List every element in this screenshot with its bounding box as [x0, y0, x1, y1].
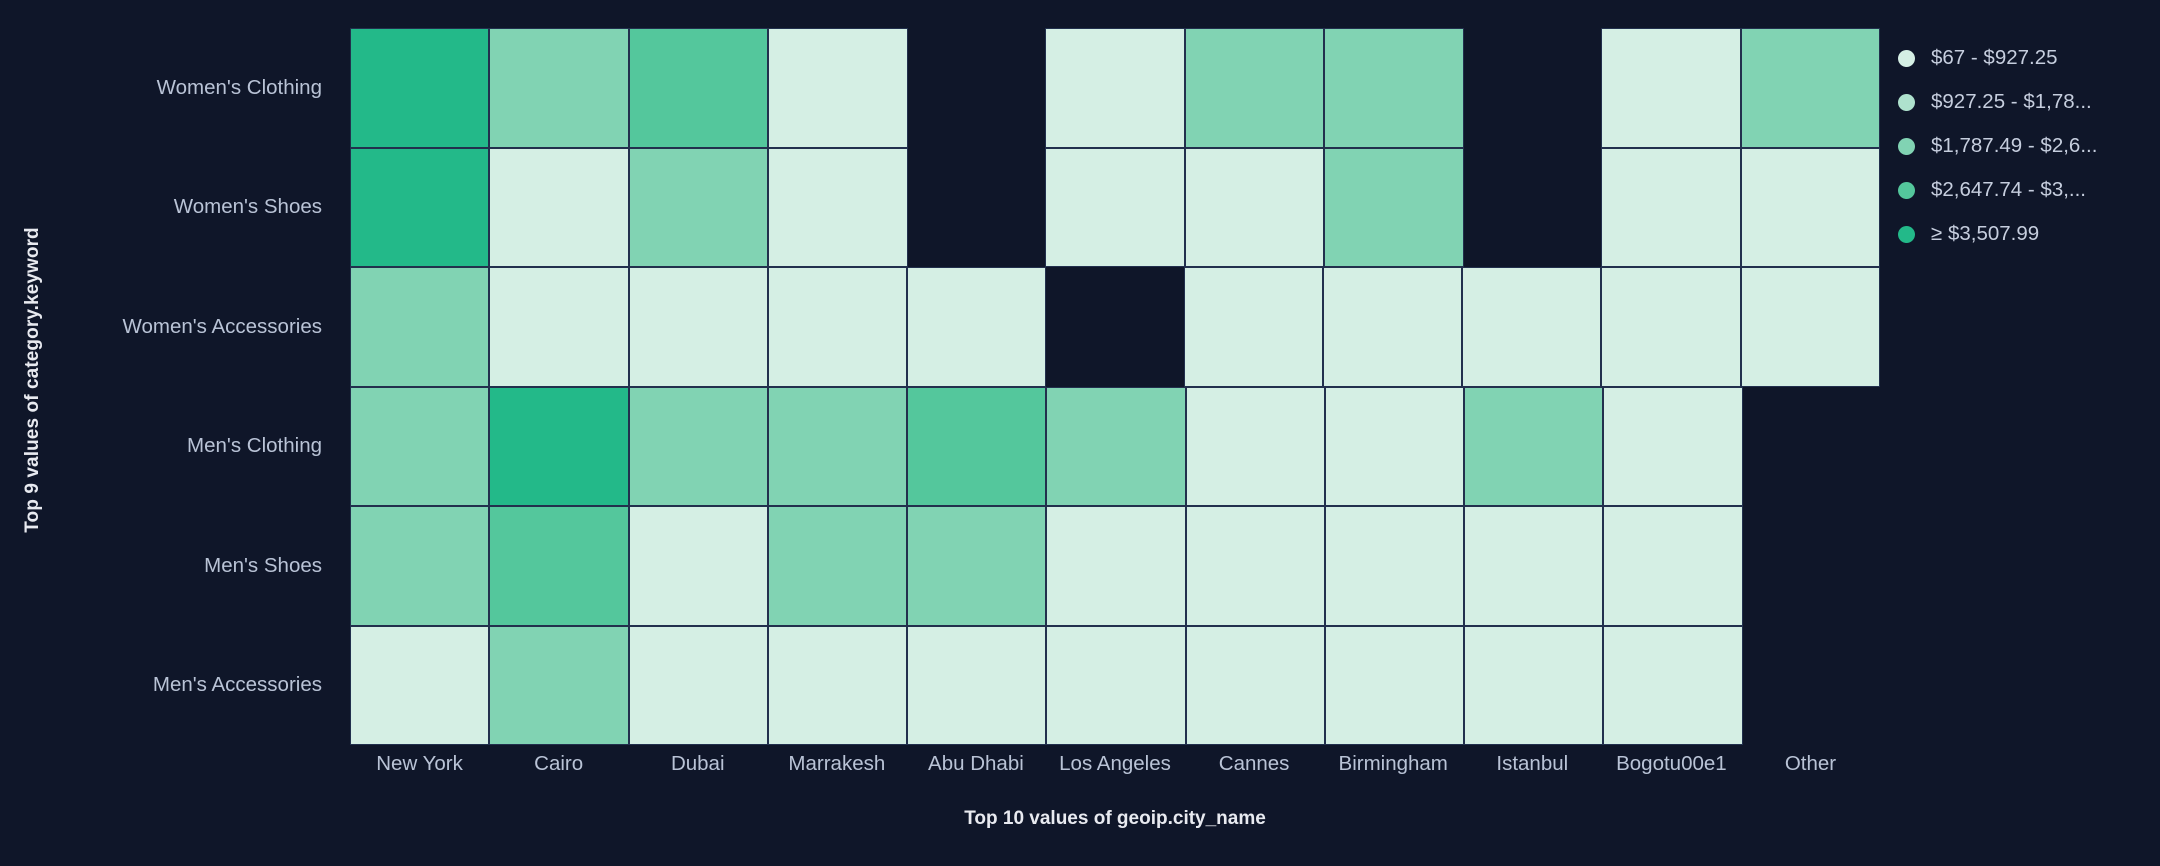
heatmap-cell[interactable]	[1464, 387, 1603, 507]
heatmap-cell[interactable]	[1186, 506, 1325, 626]
heatmap-cell[interactable]	[350, 148, 489, 268]
heatmap-cell[interactable]	[768, 148, 907, 268]
heatmap-cell[interactable]	[1324, 148, 1463, 268]
y-axis-tick-label: Women's Accessories	[48, 267, 338, 387]
heatmap-cell[interactable]	[907, 387, 1046, 507]
heatmap-cell[interactable]	[1045, 148, 1184, 268]
x-axis-tick-labels: New YorkCairoDubaiMarrakeshAbu DhabiLos …	[350, 752, 1880, 786]
heatmap-cell[interactable]	[1184, 267, 1323, 387]
heatmap-cell[interactable]	[768, 626, 907, 746]
heatmap-cell[interactable]	[1186, 626, 1325, 746]
heatmap-cell[interactable]	[1603, 626, 1742, 746]
legend-item[interactable]: $67 - $927.25	[1898, 36, 2148, 80]
heatmap-cell[interactable]	[350, 267, 489, 387]
heatmap-row	[350, 28, 1880, 148]
heatmap-cell[interactable]	[1741, 148, 1880, 268]
heatmap-cell[interactable]	[629, 626, 768, 746]
x-axis-tick-label: Other	[1741, 752, 1880, 786]
heatmap-cell[interactable]	[489, 28, 628, 148]
heatmap-cell[interactable]	[1045, 28, 1184, 148]
heatmap-cell[interactable]	[1046, 387, 1185, 507]
x-axis-tick-label: New York	[350, 752, 489, 786]
heatmap-cell[interactable]	[1603, 387, 1742, 507]
legend-swatch-icon	[1898, 50, 1915, 67]
heatmap-cell[interactable]	[1046, 506, 1185, 626]
heatmap-cell[interactable]	[1185, 28, 1324, 148]
y-axis-title: Top 9 values of category.keyword	[18, 0, 48, 760]
heatmap-cell[interactable]	[1324, 28, 1463, 148]
y-axis-tick-label: Women's Shoes	[48, 148, 338, 268]
heatmap-cell[interactable]	[768, 267, 907, 387]
heatmap-cell[interactable]	[489, 387, 628, 507]
heatmap-cell[interactable]	[1741, 28, 1880, 148]
heatmap-cell[interactable]	[907, 506, 1046, 626]
heatmap-cell-empty	[1464, 28, 1601, 148]
legend-label: $67 - $927.25	[1931, 46, 2058, 70]
heatmap-cell[interactable]	[1464, 626, 1603, 746]
heatmap-cell[interactable]	[489, 626, 628, 746]
heatmap-cell[interactable]	[629, 148, 768, 268]
legend-item[interactable]: $2,647.74 - $3,...	[1898, 168, 2148, 212]
heatmap-cell-empty	[908, 28, 1045, 148]
heatmap-cell[interactable]	[1601, 28, 1740, 148]
x-axis-title: Top 10 values of geoip.city_name	[350, 808, 1880, 830]
heatmap-cell[interactable]	[1325, 506, 1464, 626]
legend-swatch-icon	[1898, 138, 1915, 155]
heatmap-cell[interactable]	[350, 28, 489, 148]
heatmap-cell[interactable]	[1325, 387, 1464, 507]
heatmap-grid[interactable]	[350, 28, 1880, 745]
heatmap-cell[interactable]	[1601, 267, 1740, 387]
x-axis-tick-label: Dubai	[628, 752, 767, 786]
heatmap-cell[interactable]	[907, 267, 1046, 387]
legend-label: $927.25 - $1,78...	[1931, 90, 2092, 114]
heatmap-cell[interactable]	[350, 506, 489, 626]
heatmap-cell[interactable]	[489, 267, 628, 387]
heatmap-cell[interactable]	[1601, 148, 1740, 268]
heatmap-cell[interactable]	[1603, 506, 1742, 626]
heatmap-cell[interactable]	[350, 387, 489, 507]
heatmap-cell[interactable]	[350, 626, 489, 746]
heatmap-cell-empty	[1743, 387, 1880, 507]
heatmap-visualization: Top 9 values of category.keyword Women's…	[0, 0, 2160, 866]
legend-item[interactable]: $1,787.49 - $2,6...	[1898, 124, 2148, 168]
y-axis-title-text: Top 9 values of category.keyword	[22, 227, 44, 533]
heatmap-cell-empty	[908, 148, 1045, 268]
heatmap-cell[interactable]	[1185, 148, 1324, 268]
heatmap-cell[interactable]	[1325, 626, 1464, 746]
heatmap-cell[interactable]	[629, 506, 768, 626]
legend-label: ≥ $3,507.99	[1931, 222, 2039, 246]
heatmap-row	[350, 626, 1880, 746]
legend-label: $2,647.74 - $3,...	[1931, 178, 2086, 202]
heatmap-cell[interactable]	[1323, 267, 1462, 387]
heatmap-cell[interactable]	[489, 148, 628, 268]
legend-swatch-icon	[1898, 226, 1915, 243]
x-axis-tick-label: Bogotu00e1	[1602, 752, 1741, 786]
x-axis-tick-label: Cannes	[1185, 752, 1324, 786]
x-axis-tick-label: Istanbul	[1463, 752, 1602, 786]
y-axis-tick-labels: Women's ClothingWomen's ShoesWomen's Acc…	[48, 28, 338, 745]
x-axis-tick-label: Birmingham	[1324, 752, 1463, 786]
heatmap-row	[350, 506, 1880, 626]
heatmap-cell[interactable]	[1046, 626, 1185, 746]
heatmap-cell-empty	[1046, 267, 1183, 387]
legend-swatch-icon	[1898, 94, 1915, 111]
heatmap-row	[350, 387, 1880, 507]
heatmap-cell-empty	[1464, 148, 1601, 268]
y-axis-tick-label: Men's Clothing	[48, 387, 338, 507]
legend-item[interactable]: ≥ $3,507.99	[1898, 212, 2148, 256]
heatmap-cell[interactable]	[1186, 387, 1325, 507]
heatmap-cell[interactable]	[1464, 506, 1603, 626]
legend[interactable]: $67 - $927.25$927.25 - $1,78...$1,787.49…	[1898, 36, 2148, 256]
legend-label: $1,787.49 - $2,6...	[1931, 134, 2097, 158]
heatmap-cell-empty	[1743, 506, 1880, 626]
heatmap-cell[interactable]	[768, 28, 907, 148]
heatmap-cell[interactable]	[768, 387, 907, 507]
x-axis-tick-label: Abu Dhabi	[906, 752, 1045, 786]
heatmap-cell[interactable]	[907, 626, 1046, 746]
y-axis-tick-label: Men's Shoes	[48, 506, 338, 626]
heatmap-cell[interactable]	[629, 28, 768, 148]
x-axis-tick-label: Marrakesh	[767, 752, 906, 786]
x-axis-tick-label: Los Angeles	[1045, 752, 1184, 786]
heatmap-cell[interactable]	[768, 506, 907, 626]
heatmap-cell[interactable]	[629, 387, 768, 507]
heatmap-cell[interactable]	[1741, 267, 1880, 387]
x-axis-tick-label: Cairo	[489, 752, 628, 786]
heatmap-cell[interactable]	[629, 267, 768, 387]
heatmap-row	[350, 267, 1880, 387]
y-axis-tick-label: Men's Accessories	[48, 626, 338, 746]
legend-swatch-icon	[1898, 182, 1915, 199]
y-axis-tick-label: Women's Clothing	[48, 28, 338, 148]
heatmap-cell[interactable]	[489, 506, 628, 626]
legend-item[interactable]: $927.25 - $1,78...	[1898, 80, 2148, 124]
heatmap-row	[350, 148, 1880, 268]
heatmap-cell[interactable]	[1462, 267, 1601, 387]
heatmap-cell-empty	[1743, 626, 1880, 746]
